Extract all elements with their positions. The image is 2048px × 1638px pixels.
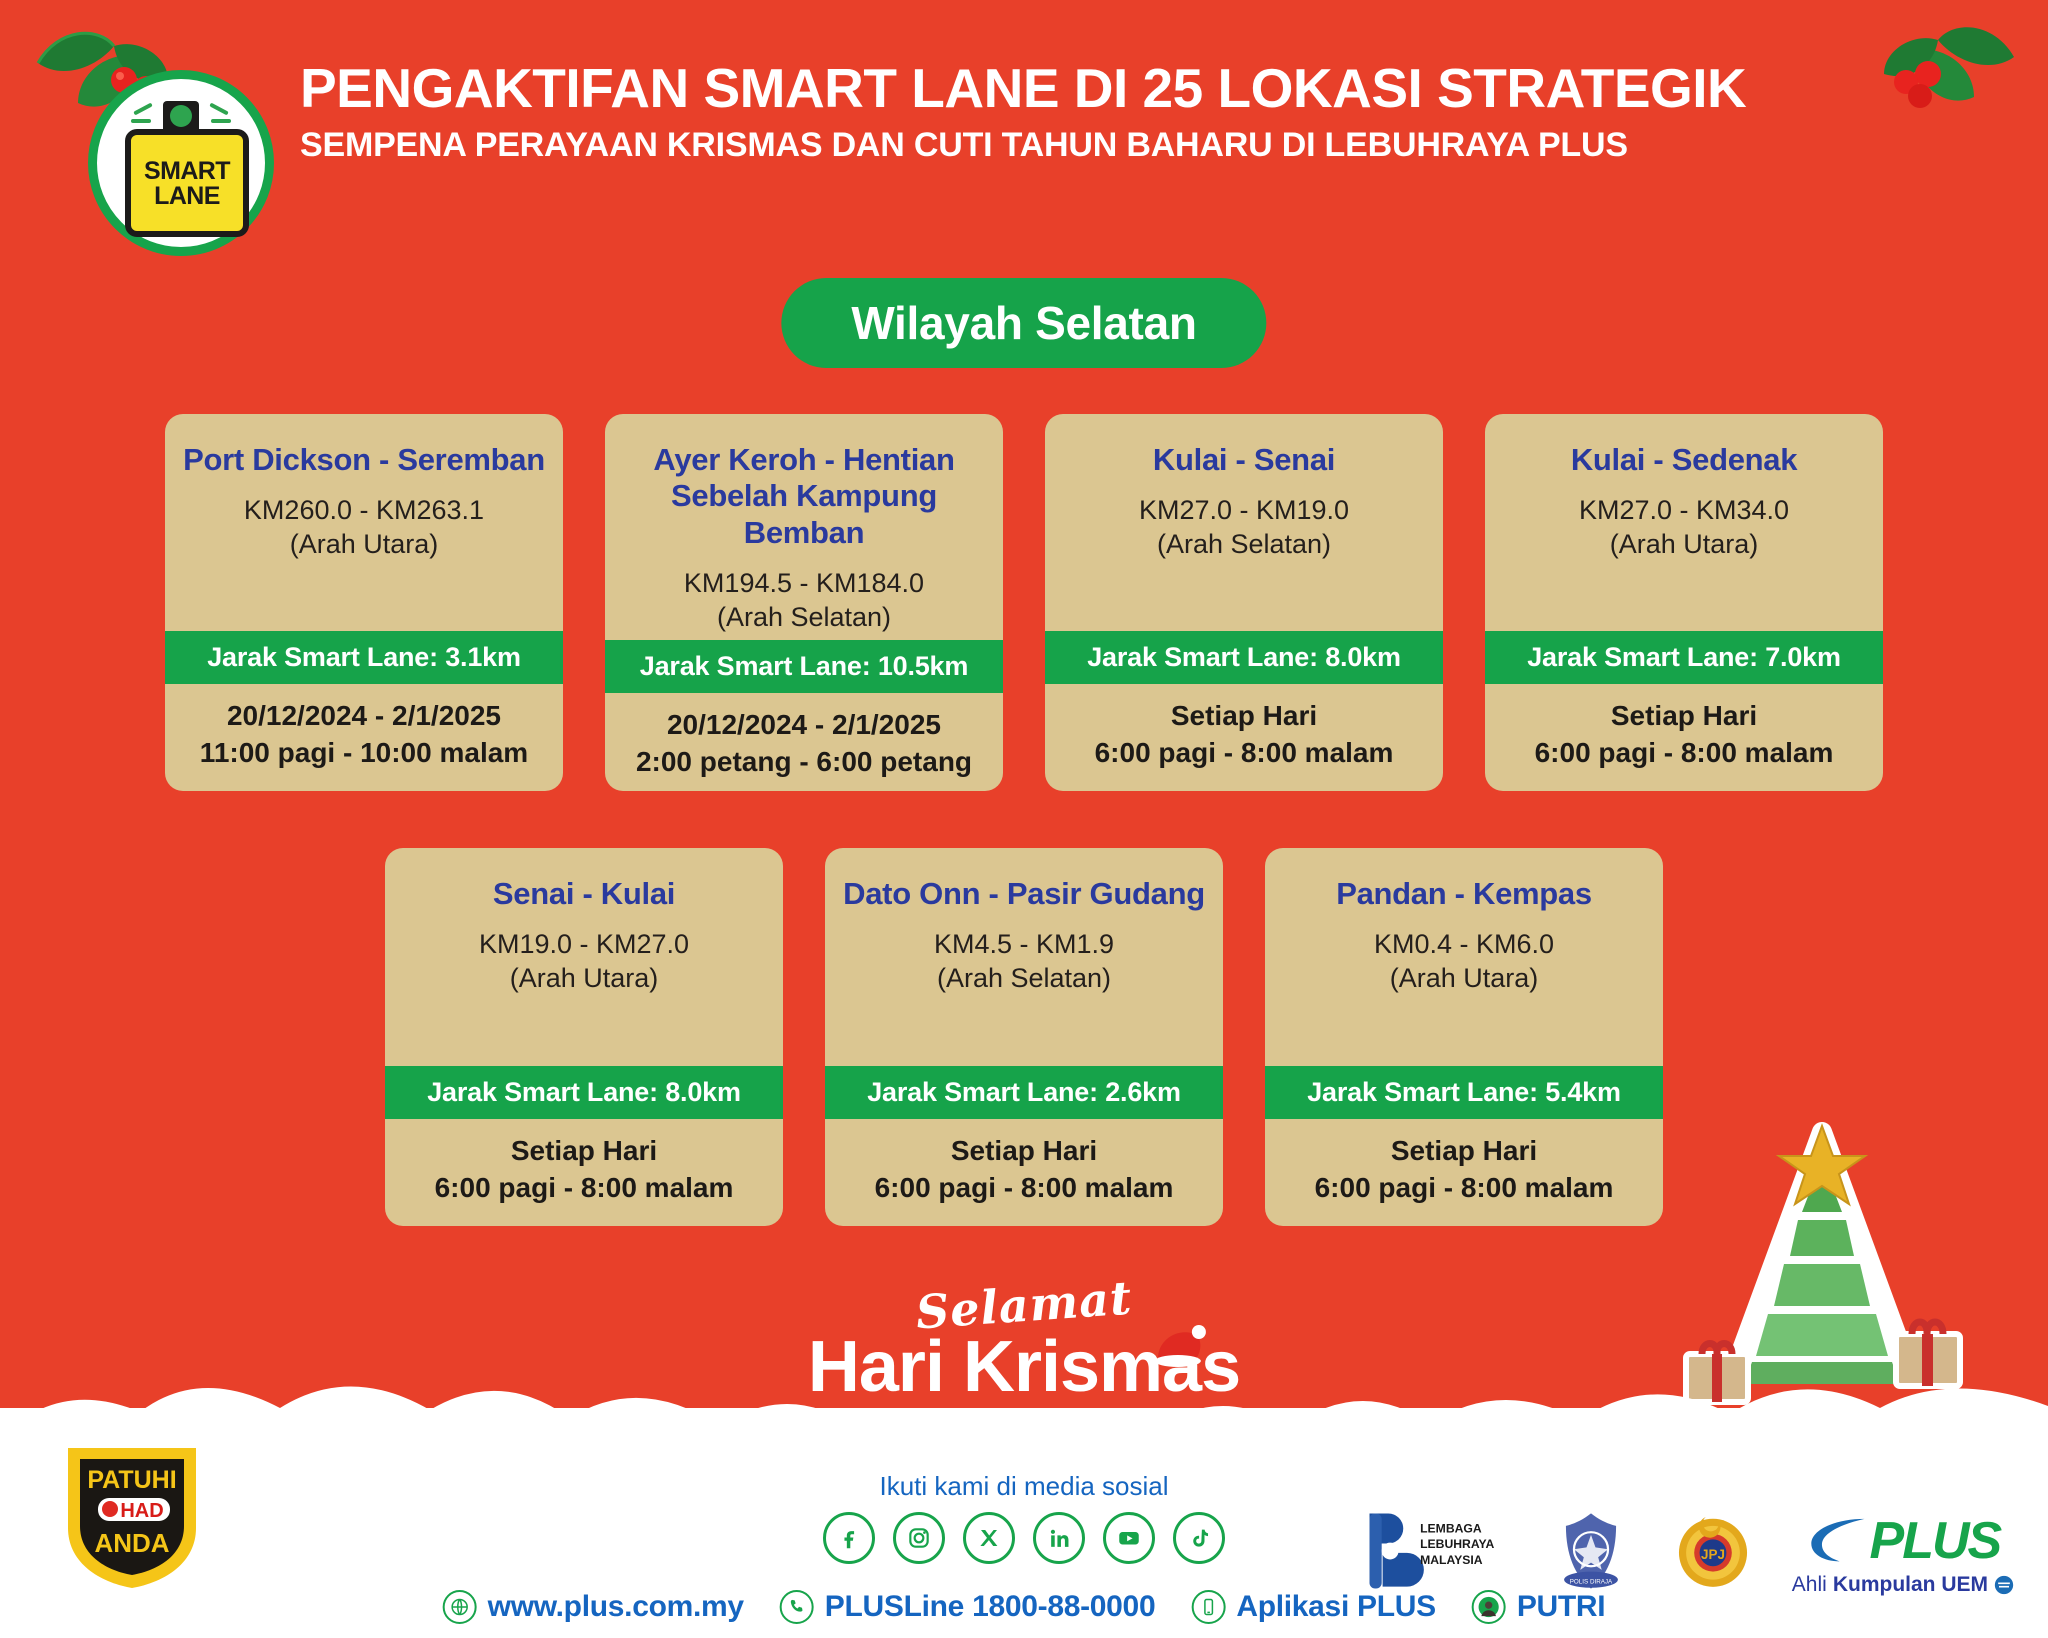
card-top: Kulai - Sedenak KM27.0 - KM34.0 (Arah Ut… bbox=[1485, 414, 1883, 631]
card-title: Senai - Kulai bbox=[401, 876, 767, 912]
card-hours: 6:00 pagi - 8:00 malam bbox=[395, 1170, 773, 1206]
smart-lane-logo: SMART LANE bbox=[88, 70, 274, 256]
santa-hat-icon bbox=[1152, 1302, 1210, 1344]
title-block: PENGAKTIFAN SMART LANE DI 25 LOKASI STRA… bbox=[300, 58, 1746, 165]
card-km-range: KM27.0 - KM34.0 bbox=[1501, 494, 1867, 528]
card-days: Setiap Hari bbox=[1055, 698, 1433, 734]
card-schedule: Setiap Hari 6:00 pagi - 8:00 malam bbox=[1045, 684, 1443, 791]
card-km-range: KM19.0 - KM27.0 bbox=[401, 928, 767, 962]
card-title: Ayer Keroh - Hentian Sebelah Kampung Bem… bbox=[621, 442, 987, 551]
plus-text: PLUS bbox=[1870, 1511, 2001, 1571]
card-hours: 6:00 pagi - 8:00 malam bbox=[835, 1170, 1213, 1206]
card-km-range: KM27.0 - KM19.0 bbox=[1061, 494, 1427, 528]
uem-tagline: Ahli Kumpulan UEM bbox=[1792, 1573, 2014, 1597]
svg-text:LEMBAGA: LEMBAGA bbox=[1420, 1521, 1482, 1535]
card-direction: (Arah Utara) bbox=[1501, 528, 1867, 562]
card-top: Senai - Kulai KM19.0 - KM27.0 (Arah Utar… bbox=[385, 848, 783, 1066]
plus-wordmark: PLUS bbox=[1806, 1511, 2001, 1571]
llm-logo: LEMBAGA LEBUHRAYA MALAYSIA bbox=[1362, 1505, 1512, 1602]
card-direction: (Arah Selatan) bbox=[621, 601, 987, 635]
card-km-range: KM260.0 - KM263.1 bbox=[181, 494, 547, 528]
page-title: PENGAKTIFAN SMART LANE DI 25 LOKASI STRA… bbox=[300, 58, 1746, 120]
contact-website[interactable]: www.plus.com.my bbox=[443, 1590, 744, 1624]
uem-mark-icon bbox=[1994, 1575, 2014, 1595]
patuhi-had-anda-badge: PATUHI HAD ANDA bbox=[62, 1442, 202, 1590]
mobile-app-icon bbox=[1191, 1590, 1225, 1624]
card-schedule: 20/12/2024 - 2/1/2025 11:00 pagi - 10:00… bbox=[165, 684, 563, 791]
partner-logos: LEMBAGA LEBUHRAYA MALAYSIA POLIS DIRAJA bbox=[1362, 1505, 2014, 1602]
poster-footer: PATUHI HAD ANDA Ikuti kami di media sosi… bbox=[0, 1408, 2048, 1638]
card-hours: 6:00 pagi - 8:00 malam bbox=[1495, 735, 1873, 771]
card-title: Pandan - Kempas bbox=[1281, 876, 1647, 912]
jpj-logo: JPJ bbox=[1670, 1508, 1756, 1599]
svg-text:LEBUHRAYA: LEBUHRAYA bbox=[1420, 1537, 1494, 1551]
card-km-range: KM194.5 - KM184.0 bbox=[621, 567, 987, 601]
location-card[interactable]: Kulai - Sedenak KM27.0 - KM34.0 (Arah Ut… bbox=[1485, 414, 1883, 791]
card-km-range: KM4.5 - KM1.9 bbox=[841, 928, 1207, 962]
svg-text:ANDA: ANDA bbox=[94, 1528, 169, 1558]
card-schedule: 20/12/2024 - 2/1/2025 2:00 petang - 6:00… bbox=[605, 693, 1003, 791]
card-hours: 6:00 pagi - 8:00 malam bbox=[1275, 1170, 1653, 1206]
card-direction: (Arah Selatan) bbox=[1061, 528, 1427, 562]
card-top: Ayer Keroh - Hentian Sebelah Kampung Bem… bbox=[605, 414, 1003, 640]
social-title: Ikuti kami di media sosial bbox=[654, 1471, 1394, 1502]
instagram-icon[interactable] bbox=[893, 1512, 945, 1564]
page-subtitle: SEMPENA PERAYAAN KRISMAS DAN CUTI TAHUN … bbox=[300, 125, 1746, 166]
card-title: Kulai - Sedenak bbox=[1501, 442, 1867, 478]
card-distance-band: Jarak Smart Lane: 3.1km bbox=[165, 631, 563, 684]
poster-canvas: SMART LANE PENGAKTIFAN SMART LANE DI 25 … bbox=[0, 0, 2048, 1638]
card-days: Setiap Hari bbox=[835, 1133, 1213, 1169]
facebook-icon[interactable] bbox=[823, 1512, 875, 1564]
contact-label: PLUSLine 1800-88-0000 bbox=[825, 1590, 1156, 1624]
card-days: 20/12/2024 - 2/1/2025 bbox=[175, 698, 553, 734]
card-hours: 2:00 petang - 6:00 petang bbox=[615, 744, 993, 780]
globe-icon bbox=[443, 1590, 477, 1624]
card-direction: (Arah Utara) bbox=[1281, 962, 1647, 996]
svg-text:HAD: HAD bbox=[120, 1500, 163, 1522]
card-top: Port Dickson - Seremban KM260.0 - KM263.… bbox=[165, 414, 563, 631]
card-hours: 11:00 pagi - 10:00 malam bbox=[175, 735, 553, 771]
x-twitter-icon[interactable] bbox=[963, 1512, 1015, 1564]
location-row-1: Port Dickson - Seremban KM260.0 - KM263.… bbox=[165, 414, 1883, 791]
tiktok-icon[interactable] bbox=[1173, 1512, 1225, 1564]
location-row-2: Senai - Kulai KM19.0 - KM27.0 (Arah Utar… bbox=[385, 848, 1663, 1226]
uem-tagline-light: Ahli bbox=[1792, 1573, 1827, 1597]
card-title: Dato Onn - Pasir Gudang bbox=[841, 876, 1207, 912]
uem-tagline-bold: Kumpulan UEM bbox=[1833, 1573, 1988, 1597]
card-days: Setiap Hari bbox=[1495, 698, 1873, 734]
location-card[interactable]: Pandan - Kempas KM0.4 - KM6.0 (Arah Utar… bbox=[1265, 848, 1663, 1226]
card-distance-band: Jarak Smart Lane: 7.0km bbox=[1485, 631, 1883, 684]
card-schedule: Setiap Hari 6:00 pagi - 8:00 malam bbox=[385, 1119, 783, 1226]
youtube-icon[interactable] bbox=[1103, 1512, 1155, 1564]
card-days: Setiap Hari bbox=[1275, 1133, 1653, 1169]
card-km-range: KM0.4 - KM6.0 bbox=[1281, 928, 1647, 962]
social-icons-list bbox=[654, 1512, 1394, 1564]
card-top: Dato Onn - Pasir Gudang KM4.5 - KM1.9 (A… bbox=[825, 848, 1223, 1066]
plus-logo: PLUS Ahli Kumpulan UEM bbox=[1792, 1511, 2014, 1597]
card-direction: (Arah Utara) bbox=[181, 528, 547, 562]
location-card[interactable]: Dato Onn - Pasir Gudang KM4.5 - KM1.9 (A… bbox=[825, 848, 1223, 1226]
pdrm-logo: POLIS DIRAJA bbox=[1548, 1508, 1634, 1599]
card-schedule: Setiap Hari 6:00 pagi - 8:00 malam bbox=[1485, 684, 1883, 791]
location-card[interactable]: Kulai - Senai KM27.0 - KM19.0 (Arah Sela… bbox=[1045, 414, 1443, 791]
card-title: Kulai - Senai bbox=[1061, 442, 1427, 478]
card-distance-band: Jarak Smart Lane: 8.0km bbox=[385, 1066, 783, 1119]
card-distance-band: Jarak Smart Lane: 8.0km bbox=[1045, 631, 1443, 684]
location-card[interactable]: Port Dickson - Seremban KM260.0 - KM263.… bbox=[165, 414, 563, 791]
contact-plusline[interactable]: PLUSLine 1800-88-0000 bbox=[780, 1590, 1156, 1624]
logo-line-1: SMART bbox=[144, 159, 230, 183]
card-schedule: Setiap Hari 6:00 pagi - 8:00 malam bbox=[1265, 1119, 1663, 1226]
card-top: Pandan - Kempas KM0.4 - KM6.0 (Arah Utar… bbox=[1265, 848, 1663, 1066]
svg-text:JPJ: JPJ bbox=[1701, 1547, 1725, 1562]
card-days: 20/12/2024 - 2/1/2025 bbox=[615, 707, 993, 743]
linkedin-icon[interactable] bbox=[1033, 1512, 1085, 1564]
location-card[interactable]: Ayer Keroh - Hentian Sebelah Kampung Bem… bbox=[605, 414, 1003, 791]
social-media-block: Ikuti kami di media sosial bbox=[654, 1471, 1394, 1564]
card-title: Port Dickson - Seremban bbox=[181, 442, 547, 478]
smart-lane-sign-icon: SMART LANE bbox=[125, 129, 249, 237]
card-days: Setiap Hari bbox=[395, 1133, 773, 1169]
card-top: Kulai - Senai KM27.0 - KM19.0 (Arah Sela… bbox=[1045, 414, 1443, 631]
card-direction: (Arah Selatan) bbox=[841, 962, 1207, 996]
location-card[interactable]: Senai - Kulai KM19.0 - KM27.0 (Arah Utar… bbox=[385, 848, 783, 1226]
card-schedule: Setiap Hari 6:00 pagi - 8:00 malam bbox=[825, 1119, 1223, 1226]
svg-text:MALAYSIA: MALAYSIA bbox=[1420, 1553, 1483, 1567]
card-hours: 6:00 pagi - 8:00 malam bbox=[1055, 735, 1433, 771]
card-direction: (Arah Utara) bbox=[401, 962, 767, 996]
region-badge: Wilayah Selatan bbox=[781, 278, 1266, 368]
poster-header: SMART LANE PENGAKTIFAN SMART LANE DI 25 … bbox=[0, 58, 2048, 218]
traffic-lamp-icon bbox=[163, 101, 199, 131]
phone-icon bbox=[780, 1590, 814, 1624]
plus-swoosh-icon bbox=[1806, 1515, 1868, 1567]
svg-text:PATUHI: PATUHI bbox=[87, 1466, 176, 1494]
contact-label: www.plus.com.my bbox=[488, 1590, 744, 1624]
logo-line-2: LANE bbox=[154, 184, 220, 208]
card-distance-band: Jarak Smart Lane: 10.5km bbox=[605, 640, 1003, 693]
card-distance-band: Jarak Smart Lane: 5.4km bbox=[1265, 1066, 1663, 1119]
card-distance-band: Jarak Smart Lane: 2.6km bbox=[825, 1066, 1223, 1119]
svg-text:POLIS DIRAJA: POLIS DIRAJA bbox=[1570, 1578, 1613, 1585]
